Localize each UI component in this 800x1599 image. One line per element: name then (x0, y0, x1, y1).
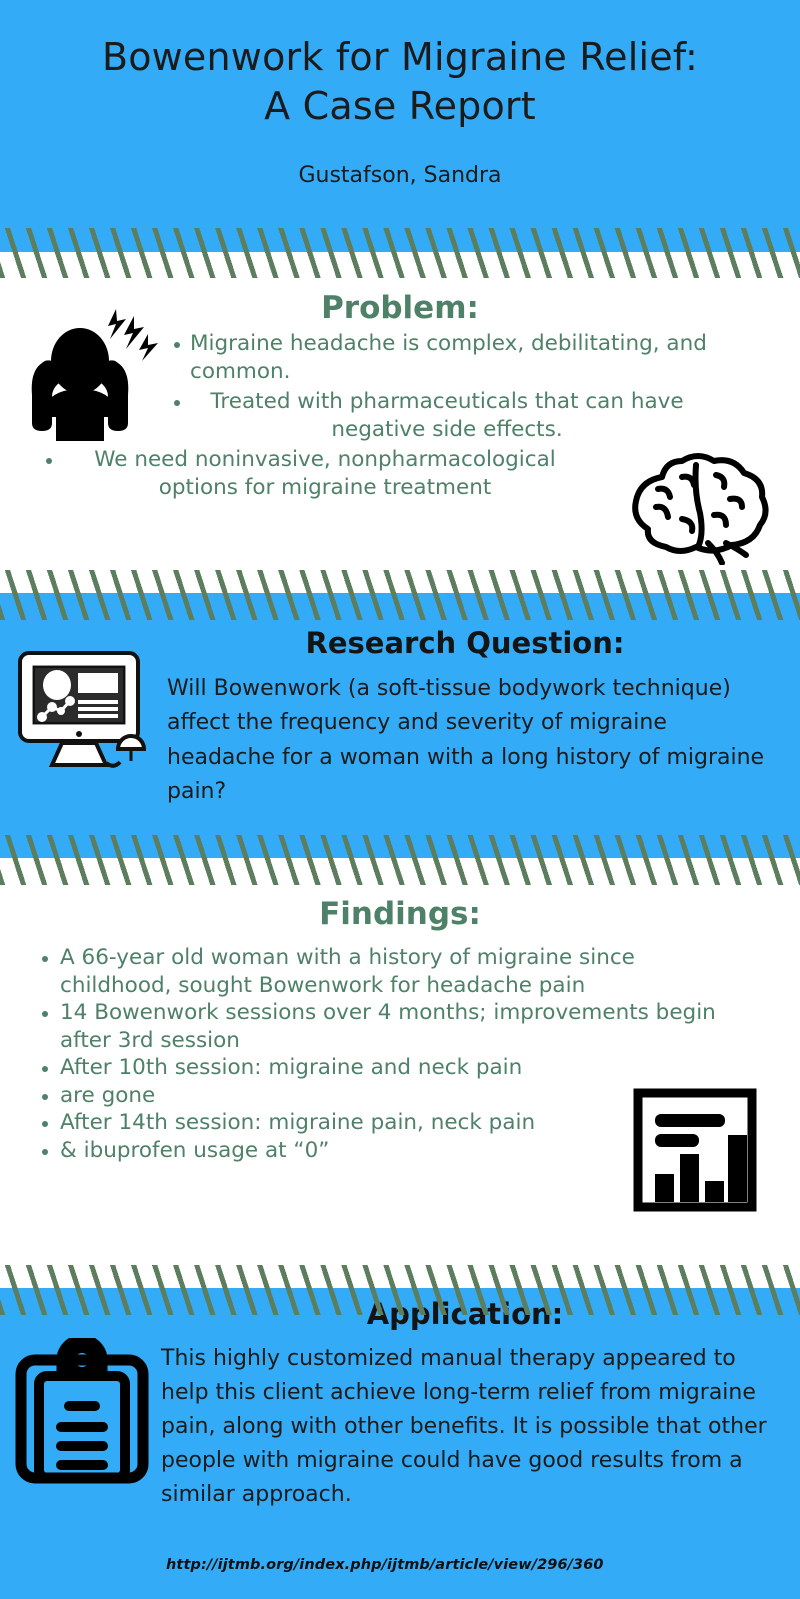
bullet-dot-icon (174, 400, 180, 406)
page-title-line2: A Case Report (0, 82, 800, 131)
brain-icon (622, 443, 777, 565)
section-heading-research-question: Research Question: (170, 628, 760, 660)
divider-stripes-1 (0, 228, 800, 278)
computer-monitor-chart-icon (14, 645, 159, 770)
list-item: After 10th session: migraine and neck pa… (60, 1054, 750, 1082)
bar-chart-icon (633, 1088, 757, 1212)
list-item: 14 Bowenwork sessions over 4 months; imp… (60, 999, 750, 1054)
list-item-text: are gone (60, 1083, 155, 1108)
list-item-text: After 10th session: migraine and neck pa… (60, 1055, 522, 1080)
source-url[interactable]: http://ijtmb.org/index.php/ijtmb/article… (166, 1557, 604, 1573)
research-question-body: Will Bowenwork (a soft-tissue bodywork t… (167, 672, 770, 809)
section-heading-problem: Problem: (170, 291, 630, 325)
infographic-poster: Bowenwork for Migraine Relief: A Case Re… (0, 0, 800, 1599)
list-item-text: & ibuprofen usage at “0” (60, 1138, 329, 1163)
author-name: Gustafson, Sandra (0, 163, 800, 188)
list-item-text: After 14th session: migraine pain, neck … (60, 1110, 535, 1135)
divider-stripes-4 (0, 1265, 800, 1315)
list-item-text: Migraine headache is complex, debilitati… (190, 331, 707, 384)
section-heading-findings: Findings: (0, 897, 800, 931)
bullet-dot-icon (46, 458, 52, 464)
bullet-dot-icon (174, 342, 180, 348)
bullet-dot-icon (42, 956, 48, 962)
list-item: A 66-year old woman with a history of mi… (60, 944, 750, 999)
divider-stripes-2 (0, 570, 800, 620)
list-item-text: Treated with pharmaceuticals that can ha… (210, 389, 683, 442)
bullet-dot-icon (42, 1149, 48, 1155)
list-item-text: A 66-year old woman with a history of mi… (60, 945, 635, 998)
clipboard-icon (12, 1338, 152, 1484)
page-title-line1: Bowenwork for Migraine Relief: (0, 33, 800, 82)
list-item-text: We need noninvasive, nonpharmacological … (94, 447, 555, 500)
list-item: Treated with pharmaceuticals that can ha… (38, 388, 762, 443)
list-item-text: 14 Bowenwork sessions over 4 months; imp… (60, 1000, 716, 1053)
divider-stripes-3 (0, 835, 800, 885)
page-title: Bowenwork for Migraine Relief: A Case Re… (0, 33, 800, 130)
list-item: Migraine headache is complex, debilitati… (38, 330, 762, 385)
bullet-dot-icon (42, 1094, 48, 1100)
application-body: This highly customized manual therapy ap… (161, 1342, 779, 1512)
